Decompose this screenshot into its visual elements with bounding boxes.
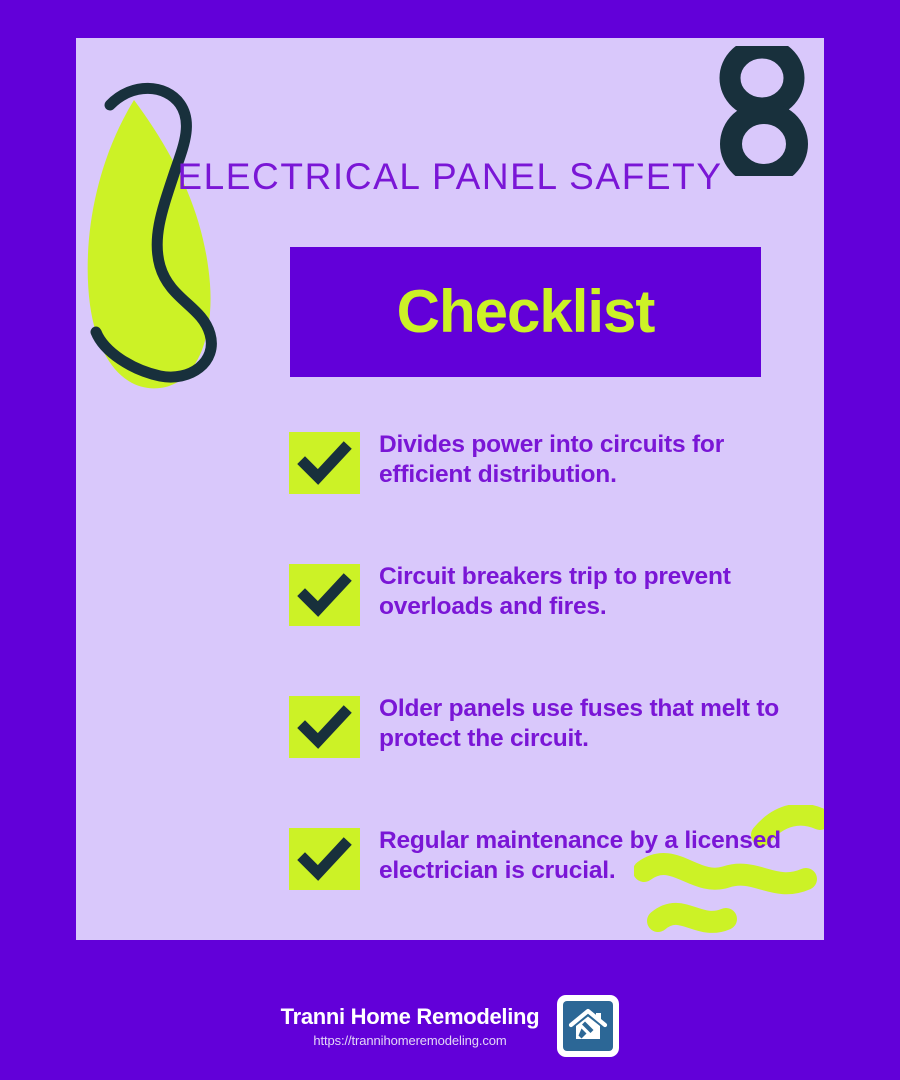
list-item-label: Regular maintenance by a licensed electr… xyxy=(379,824,809,886)
poster-card: ELECTRICAL PANEL SAFETY Checklist Divide… xyxy=(76,38,824,940)
checklist-banner-label: Checklist xyxy=(397,282,655,342)
checklist: Divides power into circuits for efficien… xyxy=(289,428,809,890)
list-item-label: Older panels use fuses that melt to prot… xyxy=(379,692,809,754)
list-item-label: Divides power into circuits for efficien… xyxy=(379,428,809,490)
list-item[interactable]: Regular maintenance by a licensed electr… xyxy=(289,824,809,890)
check-icon[interactable] xyxy=(289,432,360,494)
blob-swirl-decoration-icon xyxy=(76,70,264,400)
brand-name: Tranni Home Remodeling xyxy=(281,1004,540,1029)
checklist-banner: Checklist xyxy=(290,247,761,377)
list-item[interactable]: Divides power into circuits for efficien… xyxy=(289,428,809,494)
check-icon[interactable] xyxy=(289,828,360,890)
footer: Tranni Home Remodeling https://trannihom… xyxy=(0,985,900,1067)
page-title: ELECTRICAL PANEL SAFETY xyxy=(76,156,824,198)
brand-url[interactable]: https://trannihomeremodeling.com xyxy=(281,1033,540,1048)
check-icon[interactable] xyxy=(289,696,360,758)
logo-inner-tile xyxy=(563,1001,613,1051)
list-item[interactable]: Circuit breakers trip to prevent overloa… xyxy=(289,560,809,626)
footer-text-block: Tranni Home Remodeling https://trannihom… xyxy=(281,1004,540,1047)
house-hammer-logo-icon[interactable] xyxy=(557,995,619,1057)
list-item-label: Circuit breakers trip to prevent overloa… xyxy=(379,560,809,622)
check-icon[interactable] xyxy=(289,564,360,626)
list-item[interactable]: Older panels use fuses that melt to prot… xyxy=(289,692,809,758)
